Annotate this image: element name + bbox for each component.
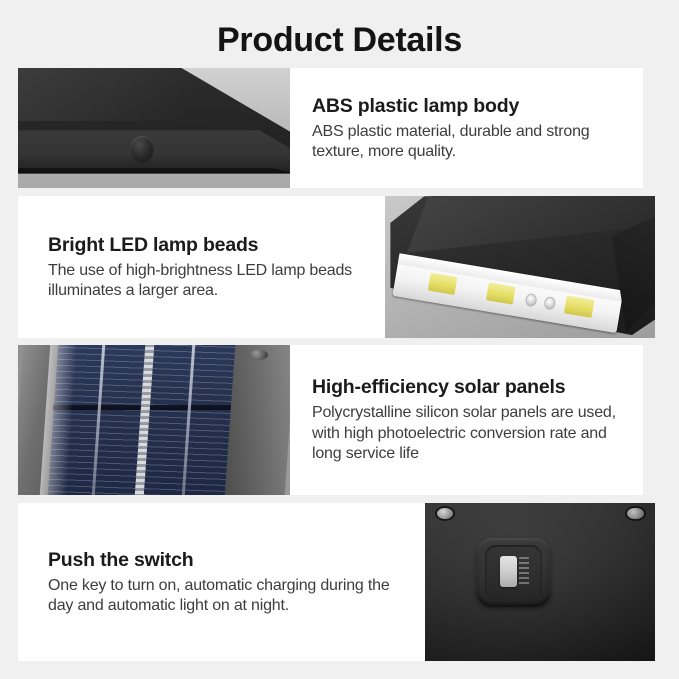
feature-description: Polycrystalline silicon solar panels are… <box>312 403 623 465</box>
lamp-body-port-hole <box>130 136 154 162</box>
feature-text-push-the-switch: Push the switch One key to turn on, auto… <box>18 503 425 661</box>
feature-title: High-efficiency solar panels <box>312 375 623 400</box>
solar-panel-photo <box>18 345 290 495</box>
feature-title: Bright LED lamp beads <box>48 233 367 258</box>
feature-text-bright-led-lamp-beads: Bright LED lamp beads The use of high-br… <box>18 196 385 338</box>
solar-frame-screw <box>249 350 268 361</box>
lamp-body-bottom-lip <box>18 168 290 174</box>
page-title: Product Details <box>0 20 679 60</box>
led-chip <box>564 296 594 317</box>
led-chip <box>428 273 458 294</box>
feature-text-abs-plastic-lamp-body: ABS plastic lamp body ABS plastic materi… <box>290 68 643 188</box>
sensor-dot <box>524 292 537 306</box>
product-details-page: Product Details ABS plastic lamp body AB… <box>0 0 679 679</box>
feature-row-bright-led-lamp-beads: Bright LED lamp beads The use of high-br… <box>18 196 655 338</box>
feature-description: The use of high-brightness LED lamp bead… <box>48 261 367 302</box>
lamp-body-front-face <box>18 130 290 171</box>
feature-title: ABS plastic lamp body <box>312 94 623 119</box>
feature-row-abs-plastic-lamp-body: ABS plastic lamp body ABS plastic materi… <box>18 68 643 188</box>
feature-description: One key to turn on, automatic charging d… <box>48 576 407 617</box>
push-switch-photo <box>425 503 655 661</box>
led-lamp-beads-photo <box>385 196 655 338</box>
feature-title: Push the switch <box>48 548 407 573</box>
feature-row-high-efficiency-solar-panels: High-efficiency solar panels Polycrystal… <box>18 345 643 495</box>
feature-description: ABS plastic material, durable and strong… <box>312 122 623 163</box>
lamp-body-highlight <box>18 68 290 121</box>
solar-frame-right <box>225 345 290 495</box>
led-chip <box>486 283 516 304</box>
sensor-dot <box>543 296 556 310</box>
abs-lamp-body-photo <box>18 68 290 188</box>
feature-row-push-the-switch: Push the switch One key to turn on, auto… <box>18 503 655 661</box>
switch-photo-vignette <box>425 503 655 661</box>
feature-text-high-efficiency-solar-panels: High-efficiency solar panels Polycrystal… <box>290 345 643 495</box>
